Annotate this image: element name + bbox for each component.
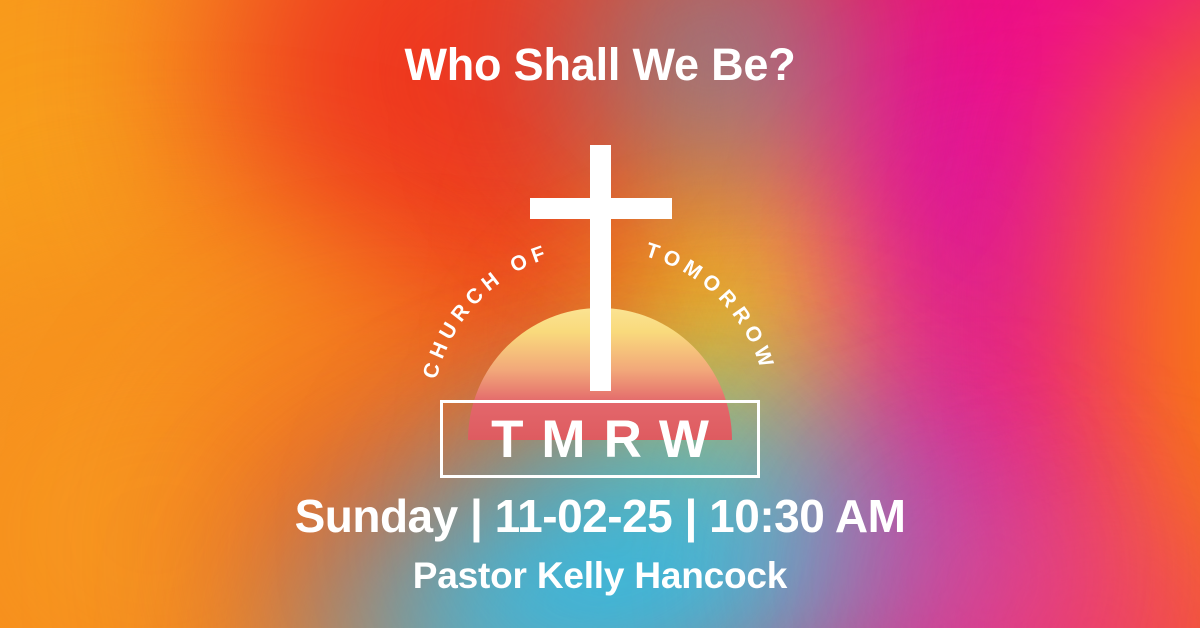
service-details: Sunday | 11-02-25 | 10:30 AM (0, 491, 1200, 542)
flyer-content: Who Shall We Be? CHURCH OF TOMORROW (0, 0, 1200, 628)
cross-icon-horizontal-bar (530, 198, 672, 219)
tmrw-wordmark-text: TMRW (473, 413, 727, 466)
page-title: Who Shall We Be? (0, 40, 1200, 90)
tmrw-wordmark-box: TMRW (440, 400, 760, 478)
cross-icon-vertical-bar (590, 145, 611, 391)
church-logo: CHURCH OF TOMORROW TMRW (420, 133, 780, 483)
flyer-canvas: Who Shall We Be? CHURCH OF TOMORROW (0, 0, 1200, 628)
speaker-name: Pastor Kelly Hancock (0, 556, 1200, 597)
